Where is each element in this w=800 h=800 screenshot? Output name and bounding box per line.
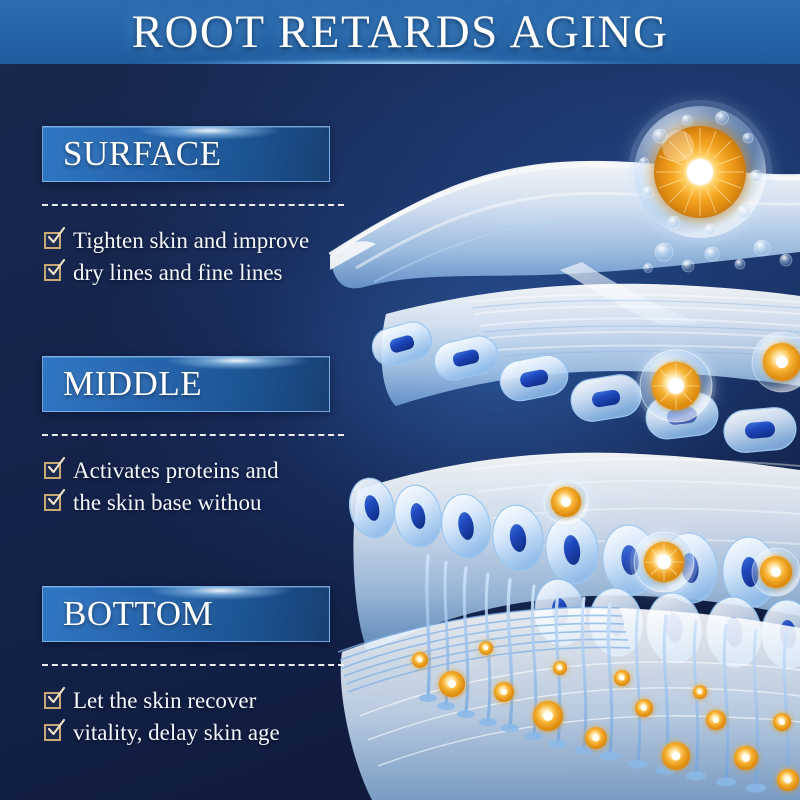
golden-sphere-bottom-b bbox=[630, 528, 698, 596]
bottom-cells-lower bbox=[531, 576, 800, 670]
golden-sphere-bottom-c bbox=[752, 548, 800, 596]
fiber-strands bbox=[427, 556, 788, 792]
checkbox-checked-icon bbox=[44, 232, 63, 251]
section-divider-middle bbox=[42, 434, 344, 436]
bullet-text: vitality, delay skin age bbox=[73, 718, 280, 748]
golden-sphere-middle bbox=[636, 346, 716, 426]
section-divider-surface bbox=[42, 204, 344, 206]
list-item: Tighten skin and improve bbox=[44, 226, 309, 256]
sections-column: SURFACE Tighten skin and improve dry bbox=[0, 64, 400, 800]
surface-droplets bbox=[644, 240, 793, 273]
checkbox-checked-icon bbox=[44, 692, 63, 711]
bullet-text: dry lines and fine lines bbox=[73, 258, 283, 288]
checkbox-checked-icon bbox=[44, 264, 63, 283]
header-band: ROOT RETARDS AGING bbox=[0, 0, 800, 64]
bullet-text: Activates proteins and bbox=[73, 456, 279, 486]
checkbox-checked-icon bbox=[44, 494, 63, 513]
page-title: ROOT RETARDS AGING bbox=[0, 0, 800, 64]
bullet-text: the skin base withou bbox=[73, 488, 261, 518]
section-label-bottom: BOTTOM bbox=[63, 587, 213, 641]
list-item: Let the skin recover bbox=[44, 686, 280, 716]
checkbox-checked-icon bbox=[44, 462, 63, 481]
list-item: the skin base withou bbox=[44, 488, 279, 518]
golden-sphere-bottom-a bbox=[540, 476, 592, 528]
bottom-cells-upper bbox=[344, 474, 780, 609]
section-label-box-surface: SURFACE bbox=[42, 126, 330, 182]
checkbox-checked-icon bbox=[44, 724, 63, 743]
bullet-text: Tighten skin and improve bbox=[73, 226, 309, 256]
section-divider-bottom bbox=[42, 664, 344, 666]
list-item: dry lines and fine lines bbox=[44, 258, 309, 288]
middle-cell-layer bbox=[368, 284, 800, 454]
golden-particles bbox=[412, 641, 799, 791]
section-label-box-bottom: BOTTOM bbox=[42, 586, 330, 642]
bottom-cell-layer bbox=[344, 453, 800, 670]
list-item: vitality, delay skin age bbox=[44, 718, 280, 748]
section-label-middle: MIDDLE bbox=[63, 357, 202, 411]
section-label-box-middle: MIDDLE bbox=[42, 356, 330, 412]
golden-sphere-large bbox=[628, 100, 772, 244]
fiber-feet bbox=[419, 694, 766, 793]
bullets-surface: Tighten skin and improve dry lines and f… bbox=[44, 226, 309, 290]
basal-membrane-layer bbox=[338, 607, 800, 800]
surface-wave-layer bbox=[330, 161, 800, 324]
bullets-bottom: Let the skin recover vitality, delay ski… bbox=[44, 686, 280, 750]
poster-root: ROOT RETARDS AGING SURFACE Tighten skin … bbox=[0, 0, 800, 800]
bullets-middle: Activates proteins and the skin base wit… bbox=[44, 456, 279, 520]
golden-sphere-middle-right bbox=[752, 332, 800, 392]
list-item: Activates proteins and bbox=[44, 456, 279, 486]
bullet-text: Let the skin recover bbox=[73, 686, 256, 716]
section-label-surface: SURFACE bbox=[63, 127, 221, 181]
middle-cells bbox=[368, 317, 798, 454]
